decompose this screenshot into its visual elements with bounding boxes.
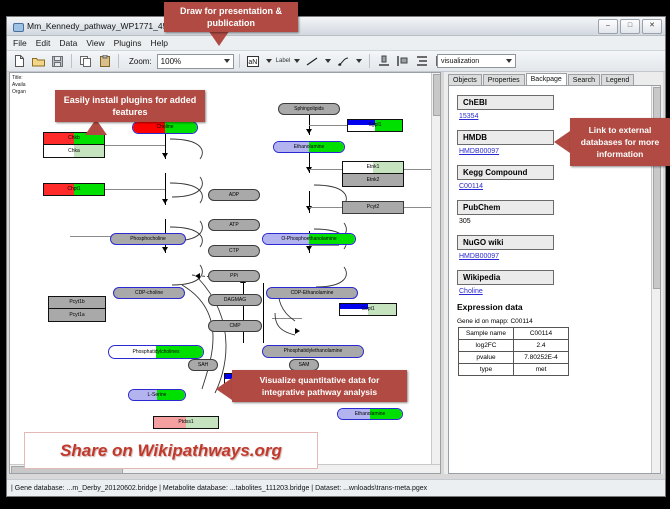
node-ctp[interactable]: CTP — [208, 245, 260, 257]
node-sphingolipids[interactable]: Sphingolipids — [278, 103, 340, 115]
minimize-button[interactable]: – — [598, 19, 618, 34]
zoom-label: Zoom: — [129, 57, 152, 66]
datanode-icon[interactable]: aN — [245, 53, 262, 70]
cell-value: 7.80252E-4 — [514, 352, 569, 364]
app-icon — [12, 21, 23, 32]
anchor-line-icon[interactable] — [335, 53, 352, 70]
tab-properties[interactable]: Properties — [483, 74, 525, 85]
toolbar-separator-3 — [239, 54, 240, 68]
db-header-hmdb: HMDB — [457, 130, 554, 145]
node-ethanolamine[interactable]: Ethanolamine — [273, 141, 345, 153]
new-file-icon[interactable] — [11, 53, 28, 70]
db-link-nugo[interactable]: HMDB00097 — [459, 253, 660, 260]
chevron-down-icon — [224, 59, 230, 63]
callout-share: Share on Wikipathways.org — [24, 432, 318, 469]
node-phosphocholine[interactable]: Phosphocholine — [110, 233, 186, 245]
callout-links: Link to external databases for more info… — [570, 118, 670, 166]
datanode-chevron-down-icon[interactable] — [266, 59, 272, 63]
node-choline-top[interactable]: Choline — [132, 121, 198, 134]
node-cdp-choline[interactable]: CDP-choline — [113, 287, 185, 299]
open-folder-icon[interactable] — [30, 53, 47, 70]
pathway-canvas[interactable]: Title: Availa Organ — [9, 72, 441, 474]
menu-help[interactable]: Help — [151, 38, 168, 48]
window-controls: – □ ✕ — [598, 19, 662, 34]
align-bottom-icon[interactable] — [375, 53, 392, 70]
callout-visualize-arrow — [216, 378, 232, 400]
maximize-button[interactable]: □ — [620, 19, 640, 34]
callout-links-arrow — [554, 131, 570, 153]
db-link-wikipedia[interactable]: Choline — [459, 288, 660, 295]
node-ptdss1[interactable]: Ptdss1 — [153, 416, 219, 429]
toolbar: Zoom: 100% aN Label — [7, 51, 665, 72]
side-panel-tabs: Objects Properties Backpage Search Legen… — [444, 72, 663, 85]
table-row: type met — [459, 364, 569, 376]
node-chpt1[interactable]: Chpt1 — [43, 183, 105, 196]
cell-label: type — [459, 364, 514, 376]
label-chevron-down-icon[interactable] — [294, 59, 300, 63]
table-row: log2FC 2.4 — [459, 340, 569, 352]
gene-id-label: Gene id on mapp: C00114 — [457, 318, 660, 325]
node-phosphatidylethanolamine[interactable]: Phosphatidylethanolamine — [262, 345, 364, 358]
cell-value: met — [514, 364, 569, 376]
chevron-down-icon — [506, 59, 512, 63]
node-sah[interactable]: SAH — [188, 359, 218, 371]
node-cept1[interactable]: Cept1 — [339, 303, 397, 316]
node-adp[interactable]: ADP — [208, 189, 260, 201]
menu-bar: File Edit Data View Plugins Help — [7, 36, 665, 51]
node-sgpl1[interactable]: Sgpl1 — [347, 119, 403, 132]
db-header-wikipedia: Wikipedia — [457, 270, 554, 285]
toolbar-separator-2 — [118, 54, 119, 68]
label-dropdown-label: Label — [276, 58, 291, 64]
callout-visualize: Visualize quantitative data for integrat… — [232, 370, 407, 402]
svg-text:aN: aN — [248, 59, 257, 66]
table-row: pvalue 7.80252E-4 — [459, 352, 569, 364]
db-header-kegg: Kegg Compound — [457, 165, 554, 180]
cell-value: 2.4 — [514, 340, 569, 352]
arrowhead-right — [295, 328, 300, 334]
tab-legend[interactable]: Legend — [601, 74, 634, 85]
node-pcyt1a[interactable]: Pcyt1a — [48, 309, 106, 322]
toolbar-separator-1 — [71, 54, 72, 68]
node-etnk2[interactable]: Etnk2 — [342, 174, 404, 187]
anchor-chevron-down-icon[interactable] — [356, 59, 362, 63]
edge-pe-up — [243, 283, 244, 343]
visualization-combobox[interactable]: visualization — [437, 54, 516, 68]
tab-search[interactable]: Search — [568, 74, 600, 85]
node-atp[interactable]: ATP — [208, 219, 260, 231]
callout-plugins: Easily install plugins for added feature… — [55, 90, 205, 122]
tab-backpage[interactable]: Backpage — [526, 73, 567, 85]
status-bar: | Gene database: ...m_Derby_20120602.bri… — [7, 479, 665, 496]
node-ethanolamine-2[interactable]: Ethanolamine — [337, 408, 403, 420]
table-row: Sample name C00114 — [459, 328, 569, 340]
node-pcyt2[interactable]: Pcyt2 — [342, 201, 404, 214]
title-bar: Mm_Kennedy_pathway_WP1771_45176.gpml – □… — [7, 17, 665, 36]
save-icon[interactable] — [49, 53, 66, 70]
align-left-icon[interactable] — [394, 53, 411, 70]
cell-label: Sample name — [459, 328, 514, 340]
db-header-chebi: ChEBI — [457, 95, 554, 110]
expression-data-title: Expression data — [457, 302, 660, 312]
node-chka[interactable]: Chka — [43, 145, 105, 158]
cell-label: pvalue — [459, 352, 514, 364]
toolbar-separator-4 — [369, 54, 370, 68]
expression-table: Sample name C00114 log2FC 2.4 pvalue 7.8… — [458, 327, 569, 376]
zoom-value: 100% — [161, 57, 181, 66]
callout-draw: Draw for presentation & publication — [164, 2, 298, 32]
pathvisio-window: Mm_Kennedy_pathway_WP1771_45176.gpml – □… — [6, 16, 666, 497]
tab-objects[interactable]: Objects — [448, 74, 482, 85]
edge-pe-up-2 — [263, 283, 264, 343]
canvas-scrollbar-vertical[interactable] — [431, 73, 440, 473]
menu-plugins[interactable]: Plugins — [114, 38, 142, 48]
node-cdp-ethanolamine[interactable]: CDP-Ethanolamine — [266, 287, 358, 299]
menu-edit[interactable]: Edit — [36, 38, 51, 48]
callout-draw-arrow — [208, 30, 230, 46]
menu-data[interactable]: Data — [59, 38, 77, 48]
db-value-pubchem: 305 — [459, 218, 660, 225]
node-ppi[interactable]: PPi — [208, 270, 260, 282]
menu-file[interactable]: File — [13, 38, 27, 48]
line-icon[interactable] — [304, 53, 321, 70]
node-pcyt1b[interactable]: Pcyt1b — [48, 296, 106, 309]
paste-icon[interactable] — [96, 53, 113, 70]
cell-label: log2FC — [459, 340, 514, 352]
node-l-serine-2[interactable]: L-Serine — [128, 389, 186, 401]
zoom-combobox[interactable]: 100% — [157, 54, 234, 69]
db-header-nugo: NuGO wiki — [457, 235, 554, 250]
line-chevron-down-icon[interactable] — [325, 59, 331, 63]
node-phosphatidylcholines[interactable]: Phosphatidylcholines — [108, 345, 204, 359]
arrowhead-left — [195, 273, 200, 279]
distribute-vertical-icon[interactable] — [413, 53, 430, 70]
node-o-phosphoethanolamine[interactable]: O-Phosphoethanolamine — [262, 233, 356, 245]
node-etnk1[interactable]: Etnk1 — [342, 161, 404, 174]
db-header-pubchem: PubChem — [457, 200, 554, 215]
menu-view[interactable]: View — [86, 38, 104, 48]
status-text: | Gene database: ...m_Derby_20120602.bri… — [11, 485, 427, 492]
db-link-kegg[interactable]: C00114 — [459, 183, 660, 190]
window-title: Mm_Kennedy_pathway_WP1771_45176.gpml — [27, 21, 598, 31]
canvas-scroll-thumb-v[interactable] — [433, 74, 441, 116]
cell-value: C00114 — [514, 328, 569, 340]
copy-icon[interactable] — [77, 53, 94, 70]
visualization-value: visualization — [441, 58, 479, 65]
close-button[interactable]: ✕ — [642, 19, 662, 34]
node-cmp[interactable]: CMP — [208, 320, 262, 332]
node-dagmag[interactable]: DAGMAG — [208, 294, 262, 306]
